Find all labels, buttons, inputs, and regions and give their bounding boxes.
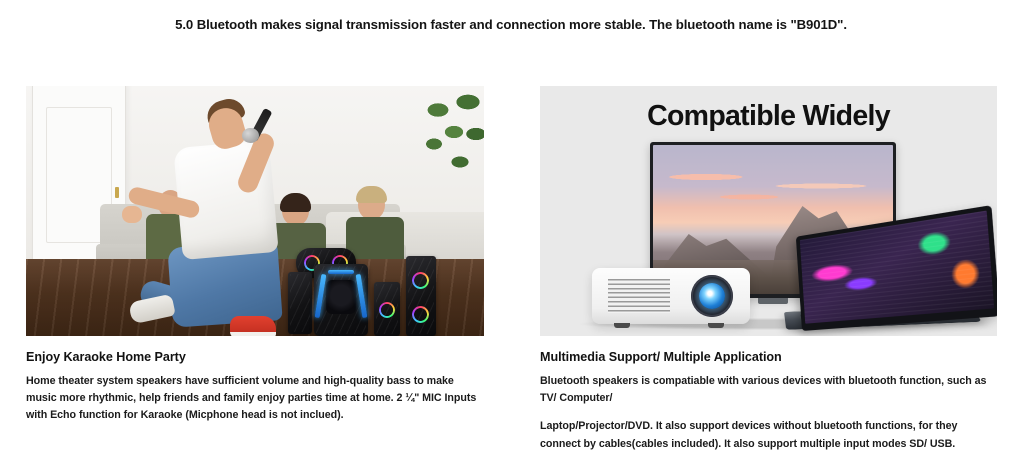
left-feature-column: Enjoy Karaoke Home Party Home theater sy… xyxy=(26,86,484,425)
compatible-widely-headline: Compatible Widely xyxy=(540,100,997,133)
lens-glow xyxy=(699,283,725,309)
projector-vents xyxy=(608,279,670,313)
satellite-speaker-far-left xyxy=(288,272,312,334)
satellite-speaker-right xyxy=(406,256,436,336)
rgb-ring-light xyxy=(379,302,395,318)
sneaker-white xyxy=(128,294,176,325)
projector-lens xyxy=(691,275,733,317)
sneaker-red xyxy=(230,316,276,336)
blue-led-strip xyxy=(315,274,327,318)
karaoke-party-photo xyxy=(26,86,484,336)
projector-foot xyxy=(614,323,630,328)
satellite-speaker-left xyxy=(374,282,400,336)
right-feature-column: Compatible Widely xyxy=(540,86,997,453)
left-hand xyxy=(122,206,142,223)
blue-led-strip xyxy=(328,270,354,274)
projector-foot xyxy=(708,323,724,328)
houseplant-icon xyxy=(424,88,484,184)
subwoofer-driver xyxy=(326,280,356,314)
projector-icon xyxy=(592,268,750,324)
right-feature-body-1: Bluetooth speakers is compatiable with v… xyxy=(540,373,997,407)
subwoofer-speaker xyxy=(314,264,368,336)
right-feature-title: Multimedia Support/ Multiple Application xyxy=(540,350,997,364)
left-feature-title: Enjoy Karaoke Home Party xyxy=(26,350,484,364)
hair xyxy=(356,186,387,203)
left-feature-body: Home theater system speakers have suffic… xyxy=(26,373,484,425)
compatible-widely-panel: Compatible Widely xyxy=(540,86,997,336)
door-handle-icon xyxy=(115,187,119,198)
blue-led-strip xyxy=(356,274,368,318)
rgb-ring-light xyxy=(412,272,429,289)
right-feature-body-2: Laptop/Projector/DVD. It also support de… xyxy=(540,418,997,452)
microphone-icon xyxy=(242,128,259,143)
laptop-icon xyxy=(784,236,984,336)
rgb-ring-light xyxy=(412,306,429,323)
header-tagline: 5.0 Bluetooth makes signal transmission … xyxy=(0,17,1022,32)
sunset-clouds xyxy=(653,171,893,207)
